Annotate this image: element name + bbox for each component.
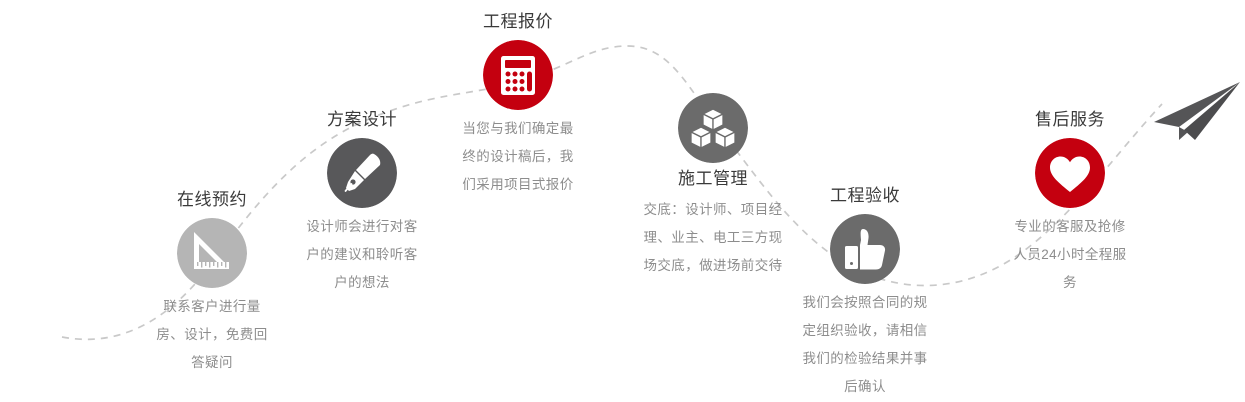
step-description: 专业的客服及抢修 人员24小时全程服 务	[990, 213, 1150, 297]
desc-line: 们采用项目式报价	[438, 171, 598, 199]
desc-line: 终的设计稿后，我	[438, 143, 598, 171]
desc-line: 设计师会进行对客	[282, 213, 442, 241]
step-title: 工程验收	[765, 184, 965, 208]
heart-icon	[1035, 138, 1105, 208]
thumbs-up-icon	[830, 214, 900, 284]
desc-line: 户的建议和聆听客	[282, 241, 442, 269]
step-description: 我们会按照合同的规 定组织验收，请相信 我们的检验结果并事 后确认	[776, 289, 954, 401]
step-project-acceptance[interactable]: 工程验收 我们会按照合同的规 定组织验收，请相信 我们的检验结果并事 后确认	[765, 184, 965, 401]
step-description: 联系客户进行量 房、设计，免费回 答疑问	[132, 293, 292, 377]
desc-line: 答疑问	[132, 349, 292, 377]
desc-line: 联系客户进行量	[132, 293, 292, 321]
desc-line: 人员24小时全程服	[990, 241, 1150, 269]
desc-line: 后确认	[776, 373, 954, 401]
step-description: 设计师会进行对客 户的建议和聆听客 户的想法	[282, 213, 442, 297]
desc-line: 我们会按照合同的规	[776, 289, 954, 317]
step-project-quotation[interactable]: 工程报价 当您与我们	[418, 10, 618, 199]
stacked-cubes-icon	[678, 93, 748, 163]
desc-line: 当您与我们确定最	[438, 115, 598, 143]
desc-line: 务	[990, 269, 1150, 297]
desc-line: 专业的客服及抢修	[990, 213, 1150, 241]
desc-line: 我们的检验结果并事	[776, 345, 954, 373]
desc-line: 房、设计，免费回	[132, 321, 292, 349]
desc-line: 户的想法	[282, 269, 442, 297]
step-title: 工程报价	[418, 10, 618, 34]
set-square-ruler-icon	[177, 218, 247, 288]
calculator-icon	[483, 40, 553, 110]
step-description: 当您与我们确定最 终的设计稿后，我 们采用项目式报价	[438, 115, 598, 199]
fountain-pen-nib-icon	[327, 138, 397, 208]
process-flow-infographic: 在线预约	[0, 0, 1245, 402]
step-after-sales-service[interactable]: 售后服务 专业的客服及抢修 人员24小时全程服 务	[970, 108, 1170, 297]
desc-line: 定组织验收，请相信	[776, 317, 954, 345]
step-title: 售后服务	[970, 108, 1170, 132]
